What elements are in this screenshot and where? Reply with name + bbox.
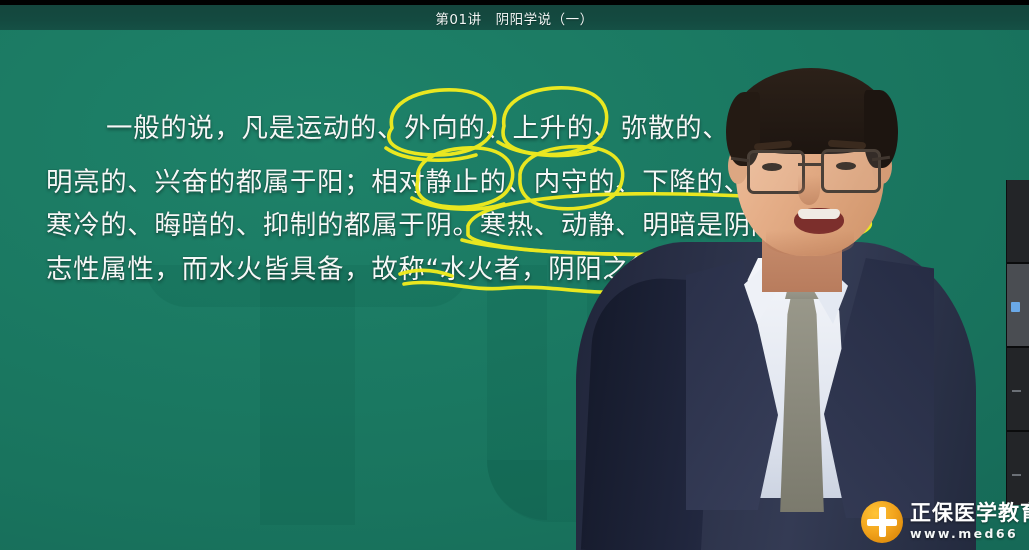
brand-watermark: 正保医学教育 www.med66 (855, 494, 1029, 550)
playlist-item-selected[interactable] (1007, 264, 1029, 348)
glasses-lens-right-icon (821, 149, 881, 193)
brand-name: 正保医学教育 (910, 503, 1029, 524)
playlist-item-accent (1011, 302, 1020, 312)
glasses-bridge (798, 163, 823, 166)
slide-canvas: 一般的说，凡是运动的、外向的、上升的、弥散的、温热的、 明亮的、兴奋的都属于阳；… (0, 30, 1029, 550)
presenter-nose (798, 175, 820, 205)
lecture-title-bar: 第01讲 阴阳学说（一） (0, 5, 1029, 30)
top-black-strip (0, 0, 1029, 5)
playlist-item-line (1012, 474, 1021, 476)
presenter-figure (566, 30, 986, 550)
lecture-title: 第01讲 阴阳学说（一） (435, 8, 593, 28)
playlist-item[interactable] (1007, 180, 1029, 264)
playlist-item[interactable] (1007, 348, 1029, 432)
glasses-lens-left-icon (747, 150, 805, 194)
presenter-chin (766, 230, 854, 256)
presenter-teeth (798, 209, 840, 219)
video-player-screen: 第01讲 阴阳学说（一） 一般的说，凡是运动的、外向的、上升的、弥散的、温热的、… (0, 0, 1029, 550)
playlist-item-line (1012, 390, 1021, 392)
brand-url: www.med66 (910, 528, 1029, 541)
playlist-side-panel[interactable] (1006, 180, 1029, 505)
medical-cross-icon (861, 501, 903, 543)
